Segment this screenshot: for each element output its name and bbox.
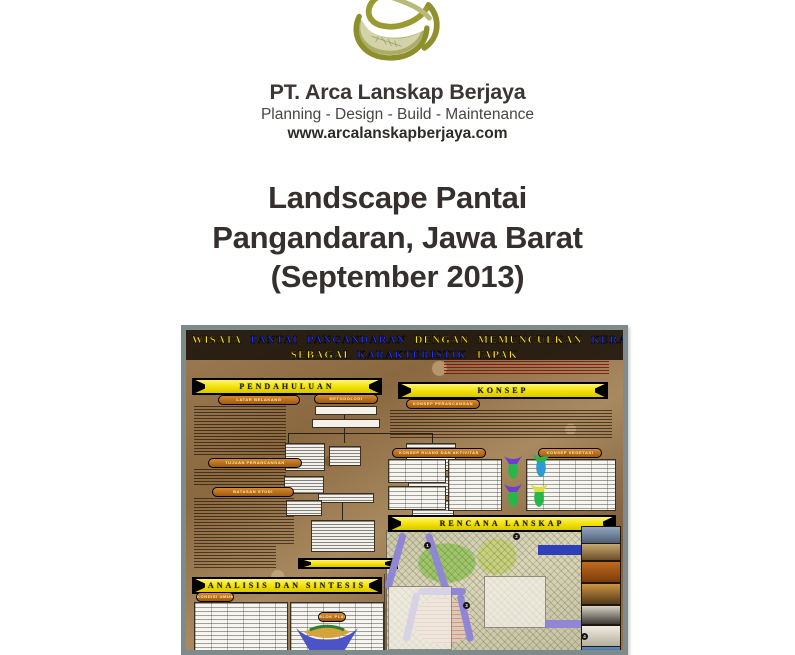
company-tagline: Planning - Design - Build - Maintenance <box>0 106 795 125</box>
poster-body-text <box>194 406 286 456</box>
poster-body-text <box>194 498 294 544</box>
section-banner-pendahuluan: PENDAHULUAN <box>192 378 382 395</box>
company-name: PT. Arca Lanskap Berjaya <box>0 80 795 105</box>
flowchart-node <box>315 406 377 415</box>
poster-author-credits <box>444 361 609 375</box>
flowchart-connector <box>288 433 289 443</box>
map-legend-left <box>388 586 452 650</box>
poster-body-text <box>390 410 612 440</box>
headline-word: WISATA <box>190 334 244 347</box>
map-callout-number: 3 <box>463 602 470 609</box>
site-photo-thumbnail <box>581 561 621 583</box>
subhead-tujuan-perancangan: TUJUAN PERANCANGAN <box>208 458 302 468</box>
headline-word: KARAKTERISTIK <box>355 349 469 362</box>
page-title: Landscape Pantai Pangandaran, Jawa Barat… <box>0 178 795 297</box>
poster-headline-line-1: WISATA PANTAI PANGANDARAN DENGAN MEMUNCU… <box>190 332 619 347</box>
section-banner-konsep: KONSEP <box>398 382 608 399</box>
flowchart-footer-band <box>298 558 398 569</box>
project-title-line-2: Pangandaran, Jawa Barat <box>0 218 795 258</box>
site-photo-thumbnail <box>581 526 621 544</box>
poster-body-text <box>194 546 276 568</box>
site-photo-thumbnail <box>581 543 621 561</box>
poster-canvas: WISATA PANTAI PANGANDARAN DENGAN MEMUNCU… <box>186 330 623 650</box>
poster-headline-line-2: SEBAGAI KARAKTERISTIK TAPAK <box>190 347 619 362</box>
flowchart-connector <box>344 433 345 443</box>
headline-word: TAPAK <box>473 349 520 362</box>
subhead-konsep-perancangan: KONSEP PERANCANGAN <box>406 399 480 409</box>
brand-header: PT. Arca Lanskap Berjaya Planning - Desi… <box>0 0 795 144</box>
subhead-latar-belakang: LATAR BELAKANG <box>218 395 300 405</box>
map-callout-number: 1 <box>424 542 431 549</box>
flowchart-node <box>312 419 380 428</box>
flowchart-node <box>318 493 374 503</box>
leaf-circle-logo-icon <box>343 0 453 66</box>
konsep-table <box>448 459 502 511</box>
shell-concept-diagram <box>502 482 524 508</box>
map-callout-number: 4 <box>581 633 588 640</box>
headline-word: PANGANDARAN <box>305 334 408 347</box>
project-poster-image[interactable]: WISATA PANTAI PANGANDARAN DENGAN MEMUNCU… <box>181 325 628 655</box>
poster-column-divider <box>384 574 385 650</box>
headline-word: PANTAI <box>249 334 301 347</box>
subhead-blok-plan: BLOK PLAN <box>318 612 346 622</box>
shell-concept-diagram <box>528 482 550 508</box>
flowchart-node <box>286 500 322 516</box>
poster-headline: WISATA PANTAI PANGANDARAN DENGAN MEMUNCU… <box>186 330 623 360</box>
site-zoning-shell-diagram <box>290 618 364 650</box>
konsep-table <box>388 459 446 483</box>
flowchart-node <box>311 520 375 552</box>
headline-word: MEMUNCULKAN <box>476 334 585 347</box>
subhead-kondisi-umum: KONDISI UMUM <box>196 592 234 602</box>
project-title-line-1: Landscape Pantai <box>0 178 795 218</box>
site-photo-thumbnail <box>581 605 621 625</box>
subhead-batasan-studi: BATASAN STUDI <box>212 487 294 497</box>
shell-concept-diagram <box>530 452 552 478</box>
project-title-line-3: (September 2013) <box>0 257 795 297</box>
map-callout-number: 2 <box>513 533 520 540</box>
flowchart-connector <box>342 501 343 520</box>
subhead-konsep-ruang: KONSEP RUANG DAN AKTIVITAS <box>392 448 486 458</box>
site-photo-thumbnail <box>581 646 621 650</box>
headline-word: SEBAGAI <box>289 349 351 362</box>
konsep-table <box>388 486 446 510</box>
site-photo-thumbnail <box>581 583 621 605</box>
map-legend-center <box>484 576 546 628</box>
shell-concept-diagram <box>502 454 524 480</box>
headline-word: KERANG <box>589 334 623 347</box>
headline-word: DENGAN <box>412 334 471 347</box>
flowchart-node <box>329 446 361 466</box>
poster-body-text <box>194 469 286 485</box>
subhead-metodologi: METODOLOGI <box>314 394 378 404</box>
analisis-table <box>194 602 288 650</box>
company-website: www.arcalanskapberjaya.com <box>0 125 795 144</box>
